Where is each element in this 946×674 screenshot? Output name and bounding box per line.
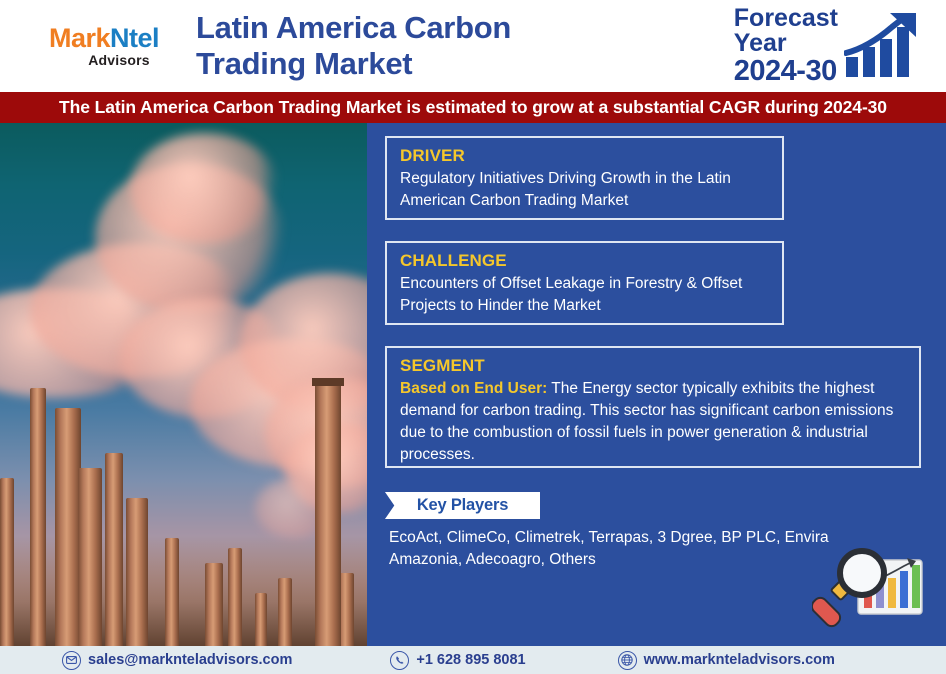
page-title-line1: Latin America Carbon	[196, 10, 734, 46]
footer-website-text: www.marknteladvisors.com	[644, 652, 835, 668]
challenge-heading: CHALLENGE	[400, 250, 769, 272]
forecast-label-line1: Forecast	[734, 6, 838, 32]
envelope-icon	[62, 651, 81, 670]
smokestack-cap	[312, 378, 344, 386]
refinery-photo	[0, 123, 367, 646]
key-players-ribbon: Key Players	[385, 492, 540, 519]
challenge-box: CHALLENGE Encounters of Offset Leakage i…	[385, 241, 784, 325]
driver-heading: DRIVER	[400, 145, 769, 167]
key-players-list: EcoAct, ClimeCo, Climetrek, Terrapas, 3 …	[389, 527, 879, 572]
refinery-tower	[205, 563, 223, 646]
forecast-label-line2: Year	[734, 31, 838, 57]
page-footer: sales@marknteladvisors.com +1 628 895 80…	[0, 646, 946, 674]
brand-logo[interactable]: MarkNtel Advisors	[0, 24, 190, 67]
insights-panel: DRIVER Regulatory Initiatives Driving Gr…	[367, 123, 946, 646]
challenge-body: Encounters of Offset Leakage in Forestry…	[400, 273, 769, 317]
refinery-tower	[126, 498, 148, 646]
smoke-plume	[130, 133, 280, 243]
forecast-year-range: 2024-30	[734, 57, 838, 87]
refinery-tower	[105, 453, 123, 646]
refinery-smokestack	[315, 383, 341, 646]
refinery-tower	[278, 578, 292, 646]
segment-lead-label: Based on End User:	[400, 380, 547, 397]
driver-box: DRIVER Regulatory Initiatives Driving Gr…	[385, 136, 784, 220]
refinery-tower	[228, 548, 242, 646]
globe-icon	[618, 651, 637, 670]
driver-body: Regulatory Initiatives Driving Growth in…	[400, 168, 769, 212]
headline-banner: The Latin America Carbon Trading Market …	[0, 92, 946, 123]
segment-box: SEGMENT Based on End User: The Energy se…	[385, 346, 921, 468]
forecast-year-block: Forecast Year 2024-30	[734, 6, 946, 87]
phone-icon	[390, 651, 409, 670]
refinery-tower	[0, 478, 14, 646]
logo-word-mark: Mark	[49, 23, 110, 53]
infographic-page: MarkNtel Advisors Latin America Carbon T…	[0, 0, 946, 674]
logo-wordmark: MarkNtel	[18, 24, 190, 52]
refinery-tower	[30, 388, 46, 646]
footer-email-text: sales@marknteladvisors.com	[88, 652, 292, 668]
logo-word-ntel: Ntel	[110, 23, 159, 53]
footer-phone-text: +1 628 895 8081	[416, 652, 525, 668]
growth-bar-chart-icon	[844, 13, 922, 79]
key-players-label: Key Players	[385, 492, 540, 519]
footer-website[interactable]: www.marknteladvisors.com	[618, 651, 835, 670]
page-header: MarkNtel Advisors Latin America Carbon T…	[0, 0, 946, 92]
content-area: DRIVER Regulatory Initiatives Driving Gr…	[0, 123, 946, 646]
refinery-tower	[165, 538, 179, 646]
forecast-year-text: Forecast Year 2024-30	[734, 6, 838, 87]
refinery-tower	[255, 593, 267, 646]
segment-heading: SEGMENT	[400, 355, 906, 377]
page-title-line2: Trading Market	[196, 46, 734, 82]
page-title: Latin America Carbon Trading Market	[190, 10, 734, 82]
refinery-tower	[78, 468, 102, 646]
footer-phone[interactable]: +1 628 895 8081	[390, 651, 525, 670]
segment-body: Based on End User: The Energy sector typ…	[400, 378, 906, 466]
footer-email[interactable]: sales@marknteladvisors.com	[62, 651, 292, 670]
logo-subtitle: Advisors	[18, 52, 190, 68]
market-research-icon	[812, 544, 930, 634]
